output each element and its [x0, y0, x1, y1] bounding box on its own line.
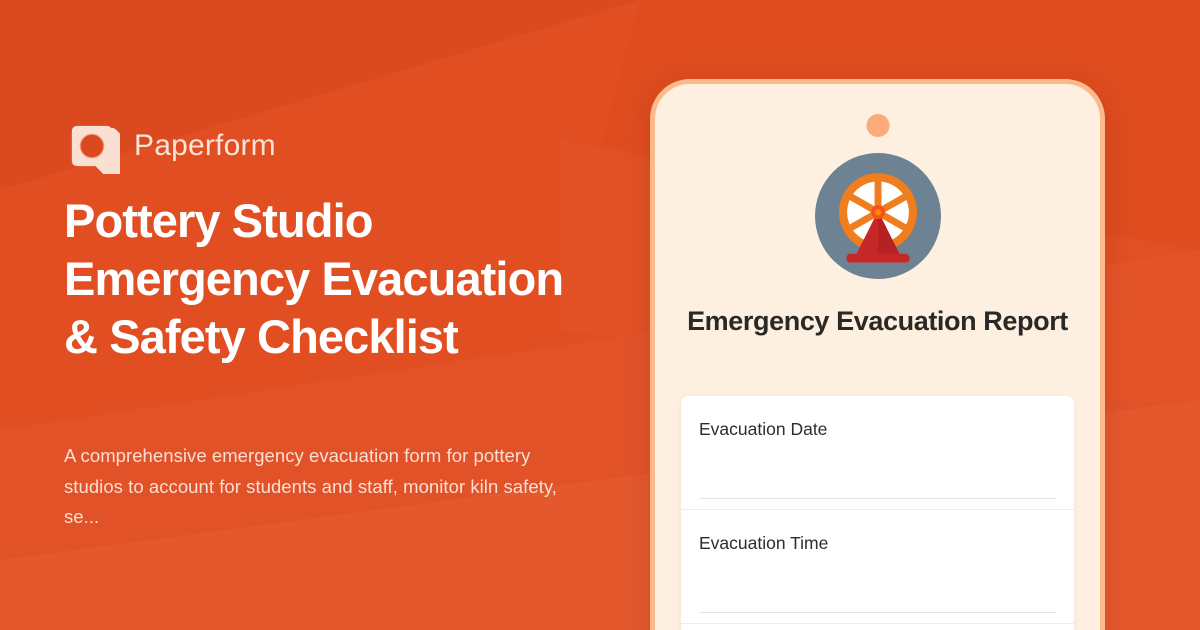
pottery-wheel-icon	[815, 153, 941, 279]
brand-lockup: Paperform	[64, 117, 276, 175]
page-title: Pottery Studio Emergency Evacuation & Sa…	[64, 192, 584, 366]
camera-dot-icon	[866, 114, 889, 137]
form-card: Evacuation Date Evacuation Time	[681, 396, 1074, 630]
hero-content: Paperform Pottery Studio Emergency Evacu…	[64, 0, 604, 630]
form-field-label: Evacuation Date	[699, 418, 1056, 440]
paperform-logo-icon	[64, 118, 120, 174]
evacuation-time-input[interactable]	[699, 612, 1056, 613]
form-field-evacuation-time[interactable]: Evacuation Time	[681, 510, 1074, 624]
phone-mockup: Emergency Evacuation Report Evacuation D…	[650, 79, 1105, 630]
form-field-label: Evacuation Time	[699, 532, 1056, 554]
form-heading: Emergency Evacuation Report	[683, 304, 1072, 338]
share-card-canvas: Paperform Pottery Studio Emergency Evacu…	[0, 0, 1200, 630]
form-field-evacuation-date[interactable]: Evacuation Date	[681, 396, 1074, 510]
brand-wordmark: Paperform	[134, 131, 276, 161]
evacuation-date-input[interactable]	[699, 498, 1056, 499]
page-description: A comprehensive emergency evacuation for…	[64, 441, 579, 533]
